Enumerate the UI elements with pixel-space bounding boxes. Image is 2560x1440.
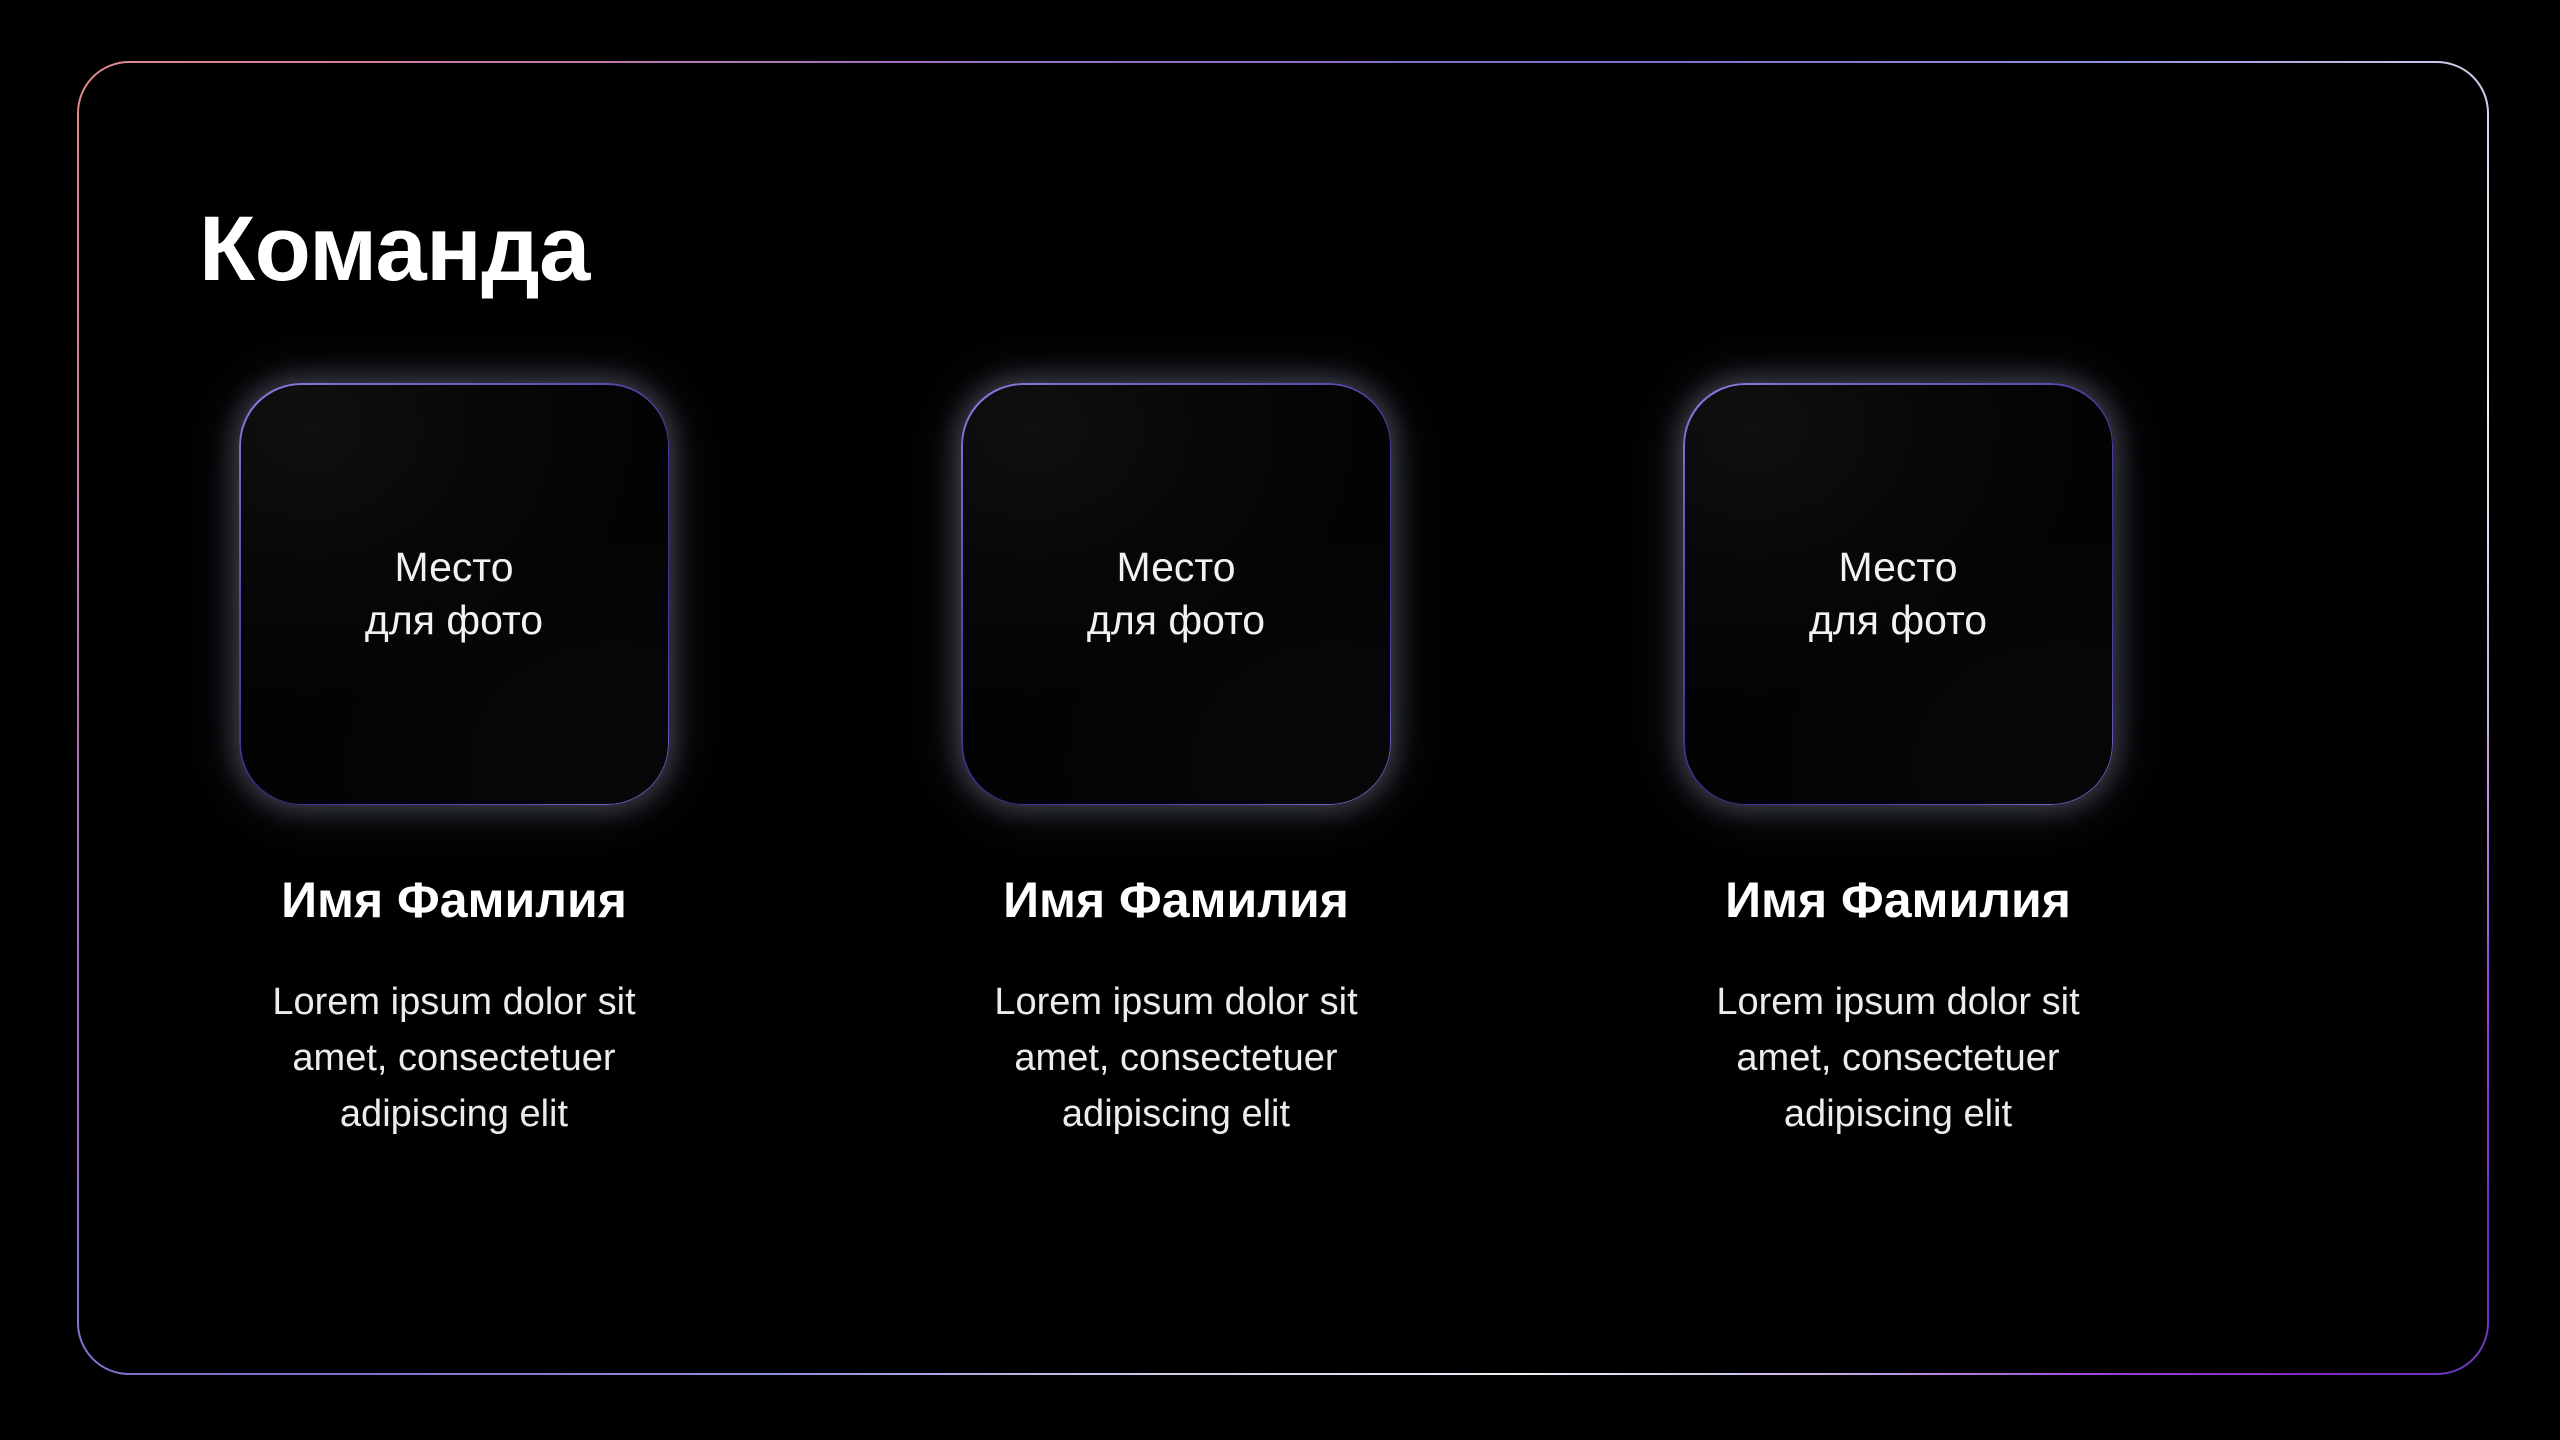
slide-root: Команда Место для фото Имя Фамилия Lorem…: [0, 0, 2560, 1440]
member-description: Lorem ipsum dolor sit amet, consectetuer…: [1698, 974, 2098, 1143]
photo-placeholder-label-line1: Место: [1116, 541, 1235, 594]
team-member-card[interactable]: Место для фото Имя Фамилия Lorem ipsum d…: [239, 383, 669, 1143]
photo-placeholder[interactable]: Место для фото: [1683, 383, 2113, 805]
page-title: Команда: [199, 203, 590, 295]
frame-content-area: Команда Место для фото Имя Фамилия Lorem…: [79, 63, 2487, 1373]
member-name: Имя Фамилия: [1003, 873, 1349, 928]
photo-placeholder-surface: Место для фото: [1685, 385, 2112, 804]
photo-placeholder[interactable]: Место для фото: [961, 383, 1391, 805]
member-description: Lorem ipsum dolor sit amet, consectetuer…: [254, 974, 654, 1143]
photo-placeholder-label-line1: Место: [394, 541, 513, 594]
team-member-card[interactable]: Место для фото Имя Фамилия Lorem ipsum d…: [961, 383, 1391, 1143]
team-member-card[interactable]: Место для фото Имя Фамилия Lorem ipsum d…: [1683, 383, 2113, 1143]
member-name: Имя Фамилия: [281, 873, 627, 928]
photo-placeholder-label-line2: для фото: [1087, 594, 1265, 647]
photo-placeholder[interactable]: Место для фото: [239, 383, 669, 805]
photo-placeholder-surface: Место для фото: [241, 385, 668, 804]
member-description: Lorem ipsum dolor sit amet, consectetuer…: [976, 974, 1376, 1143]
photo-placeholder-label-line1: Место: [1838, 541, 1957, 594]
photo-placeholder-label-line2: для фото: [1809, 594, 1987, 647]
gradient-frame: Команда Место для фото Имя Фамилия Lorem…: [77, 61, 2489, 1375]
team-members-row: Место для фото Имя Фамилия Lorem ipsum d…: [239, 383, 2329, 1143]
photo-placeholder-surface: Место для фото: [963, 385, 1390, 804]
member-name: Имя Фамилия: [1725, 873, 2071, 928]
photo-placeholder-label-line2: для фото: [365, 594, 543, 647]
